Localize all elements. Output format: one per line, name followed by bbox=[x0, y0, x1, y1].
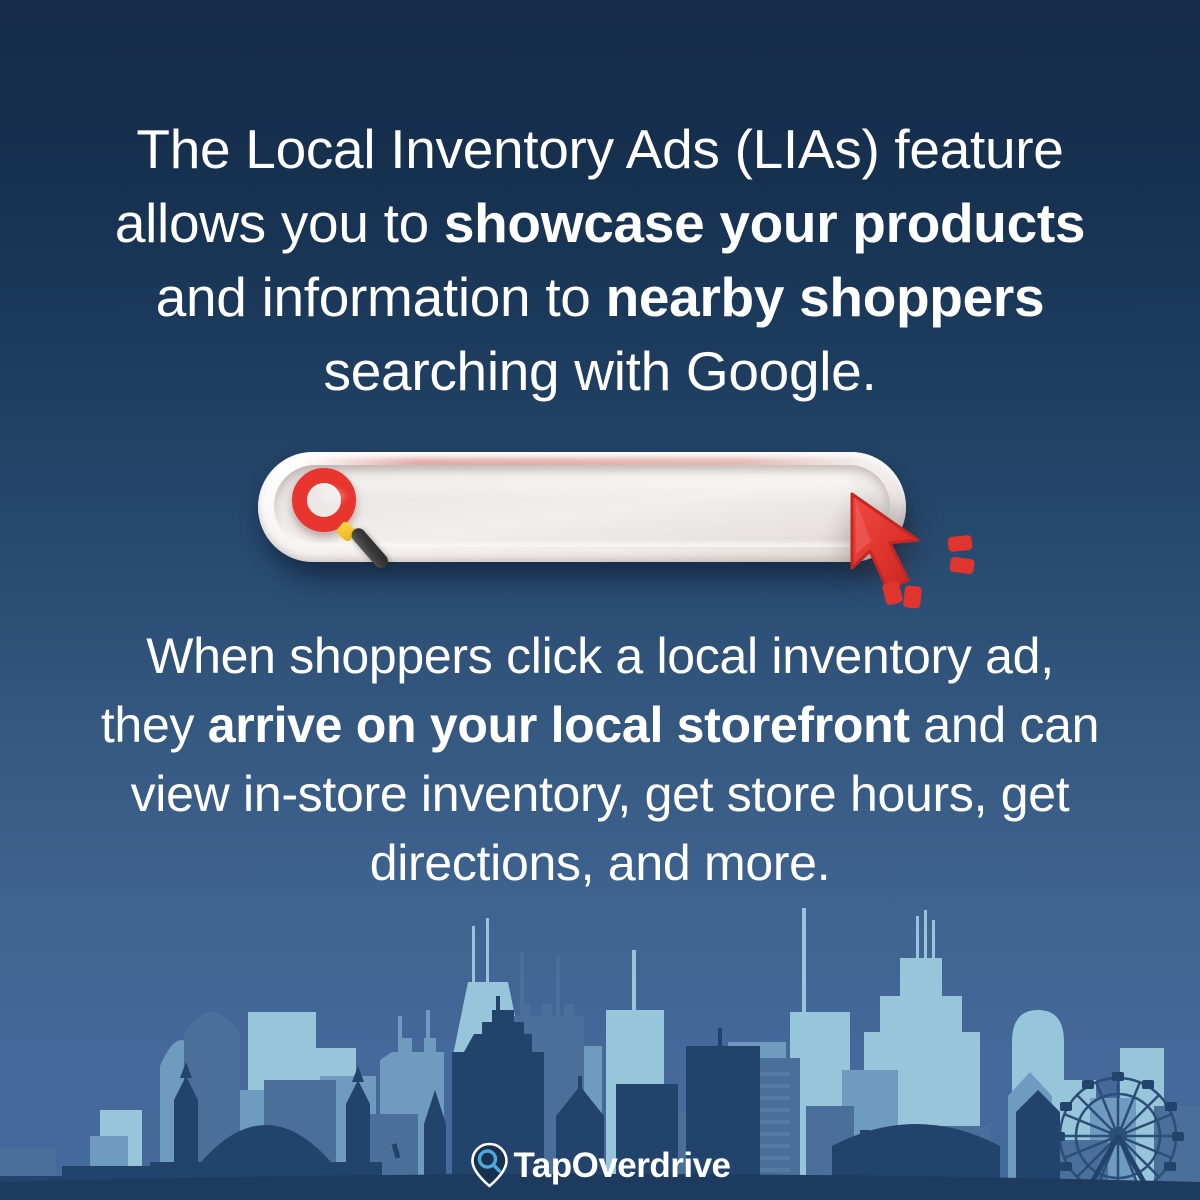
brand-logo[interactable]: TapOverdrive bbox=[469, 1142, 730, 1188]
search-icon[interactable] bbox=[290, 468, 400, 568]
click-burst-mark bbox=[903, 585, 922, 609]
copy-top-part2: and information to bbox=[156, 266, 606, 328]
cursor-arrow-glyph bbox=[844, 490, 936, 594]
headline-paragraph-bottom: When shoppers click a local inventory ad… bbox=[100, 622, 1100, 898]
copy-top-part3: searching with Google. bbox=[324, 340, 877, 402]
click-burst-mark bbox=[947, 535, 972, 552]
search-bar-3d-illustration[interactable] bbox=[258, 452, 918, 602]
copy-bottom-bold1: arrive on your local storefront bbox=[208, 697, 910, 753]
magnifier-handle bbox=[349, 525, 391, 570]
copy-top-bold2: nearby shoppers bbox=[606, 266, 1045, 328]
headline-paragraph-top: The Local Inventory Ads (LIAs) feature a… bbox=[95, 112, 1105, 408]
poster-canvas: The Local Inventory Ads (LIAs) feature a… bbox=[0, 0, 1200, 1200]
map-pin-search-icon bbox=[469, 1142, 509, 1188]
brand-name: TapOverdrive bbox=[513, 1148, 730, 1183]
mouse-cursor-icon[interactable] bbox=[844, 490, 994, 600]
copy-top-bold1: showcase your products bbox=[444, 192, 1085, 254]
magnifier-highlight bbox=[319, 489, 345, 503]
click-burst-mark bbox=[949, 556, 975, 574]
